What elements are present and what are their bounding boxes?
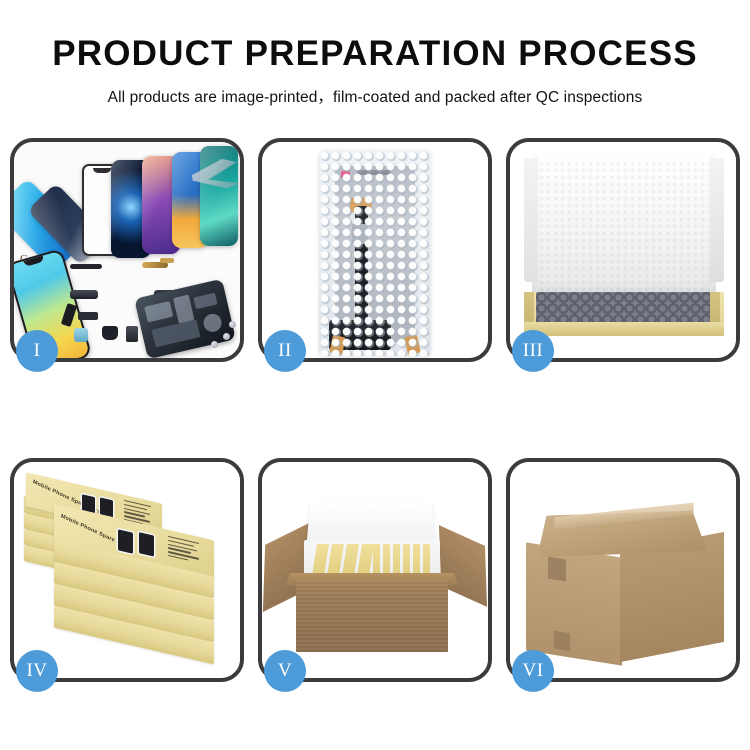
sealed-carton-front: [526, 542, 622, 665]
step-panel-5: V: [258, 458, 492, 682]
retail-box-stack: Mobile Phone Spare Parts Mobile: [20, 480, 234, 668]
step-panel-6: VI: [506, 458, 740, 682]
step-badge-3: III: [512, 330, 554, 372]
step-3-image: [510, 142, 736, 358]
bubble-texture: [319, 150, 431, 356]
step-badge-6: VI: [512, 650, 554, 692]
step-badge-4: IV: [16, 650, 58, 692]
step-panel-1: I: [10, 138, 244, 362]
step-badge-2: II: [264, 330, 306, 372]
step-panel-3: III: [506, 138, 740, 362]
page-title: PRODUCT PREPARATION PROCESS: [0, 34, 750, 74]
step-panel-4: Mobile Phone Spare Parts Mobile: [10, 458, 244, 682]
bubble-wrap-bag-icon: [319, 150, 431, 356]
product-preparation-infographic: PRODUCT PREPARATION PROCESS All products…: [0, 0, 750, 750]
step-6-image: [510, 462, 736, 678]
page-subtitle: All products are image-printed，film-coat…: [0, 85, 750, 107]
step-1-image: [14, 142, 240, 358]
phone-screen-lineup-icon: [14, 142, 240, 267]
header: PRODUCT PREPARATION PROCESS All products…: [0, 0, 750, 107]
step-panel-2: II: [258, 138, 492, 362]
carton-body: [296, 580, 448, 652]
foam-lid-icon: [532, 152, 716, 294]
step-4-image: Mobile Phone Spare Parts Mobile: [14, 462, 240, 678]
step-badge-5: V: [264, 650, 306, 692]
boxed-bubble-contents: [536, 292, 712, 324]
step-badge-1: I: [16, 330, 58, 372]
step-5-image: [262, 462, 488, 678]
process-steps-grid: I II: [10, 138, 740, 686]
step-2-image: [262, 142, 488, 358]
